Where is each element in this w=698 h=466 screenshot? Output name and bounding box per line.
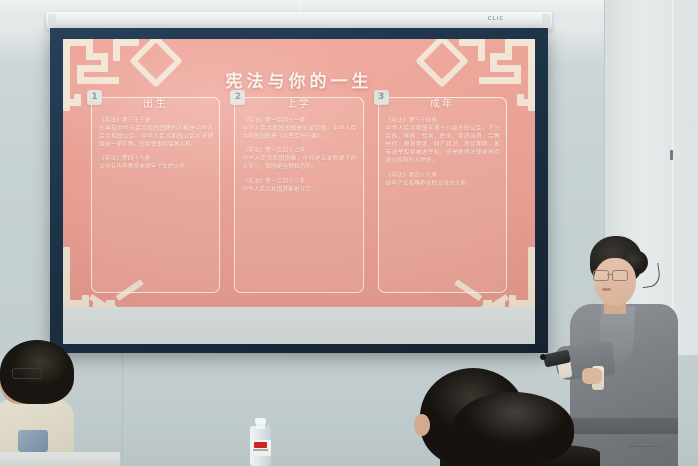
card-body: 《宪法》第三十四条 中华人民共和国年满十八周岁的公民，不分民族、种族、性别、职业… <box>386 117 500 287</box>
slide-card-adulthood: 3 成年 《宪法》第三十四条 中华人民共和国年满十八周岁的公民，不分民族、种族、… <box>378 97 507 293</box>
article-text: 中华人民共和国国旗是五星红旗。中华人民共和国国歌是《义勇军进行曲》。 <box>242 126 356 140</box>
card-paragraph: 《宪法》第三十三条 凡具有中华人民共和国国籍的人都是中华人民共和国公民。中华人民… <box>99 117 213 149</box>
presentation-remote-tip <box>540 354 546 360</box>
audience-head-front-right <box>452 392 574 466</box>
slide-card-school: 2 上学 《宪法》第一百四十一条 中华人民共和国国旗是五星红旗。中华人民共和国国… <box>234 97 363 293</box>
card-title: 上学 <box>235 97 362 113</box>
slide-card-row: 1 出生 《宪法》第三十三条 凡具有中华人民共和国国籍的人都是中华人民共和国公民… <box>91 97 507 293</box>
roller-cap-right <box>542 14 550 28</box>
article-text: 中华人民共和国年满十八周岁的公民，不分民族、种族、性别、职业、家庭出身、宗教信仰… <box>386 126 500 164</box>
slide-card-birth: 1 出生 《宪法》第三十三条 凡具有中华人民共和国国籍的人都是中华人民共和国公民… <box>91 97 220 293</box>
wall-seam <box>122 352 123 466</box>
article-reference: 《宪法》第一百四十二条 <box>242 147 356 155</box>
glasses-icon <box>593 270 631 279</box>
card-paragraph: 《宪法》第四十九条 成年子女有赡养扶助父母的义务。 <box>386 172 500 188</box>
presenter-coat-belt <box>570 418 678 434</box>
bottle-label-mark <box>254 442 267 448</box>
article-reference: 《宪法》第四十九条 <box>386 172 500 180</box>
presenter <box>556 236 680 466</box>
card-title: 出生 <box>92 97 219 113</box>
screen-blank-area <box>63 307 535 344</box>
roller-brand-label: CLiC <box>488 16 504 22</box>
screen-canvas: 宪法与你的一生 1 出生 《宪法》第三十三条 凡具有中华人民共和国国籍的人都是中… <box>63 39 535 344</box>
glasses-icon <box>12 368 42 379</box>
presenter-face <box>594 258 636 306</box>
card-body: 《宪法》第一百四十一条 中华人民共和国国旗是五星红旗。中华人民共和国国歌是《义勇… <box>242 117 356 287</box>
presenter-hair-strand <box>639 263 661 288</box>
card-paragraph: 《宪法》第一百四十一条 中华人民共和国国旗是五星红旗。中华人民共和国国歌是《义勇… <box>242 117 356 141</box>
article-text: 父母有抚养教育未成年子女的义务。 <box>99 164 191 170</box>
ear <box>414 414 430 436</box>
card-paragraph: 《宪法》第四十九条 父母有抚养教育未成年子女的义务。 <box>99 155 213 171</box>
article-reference: 《宪法》第四十九条 <box>99 155 213 163</box>
presenter-hand <box>582 368 602 384</box>
door-latch <box>670 150 673 160</box>
slide-title: 宪法与你的一生 <box>63 67 535 92</box>
article-text: 中华人民共和国首都是北京。 <box>242 187 317 193</box>
article-text: 凡具有中华人民共和国国籍的人都是中华人民共和国公民。中华人民共和国公民在法律面前… <box>99 126 213 148</box>
card-title: 成年 <box>379 97 506 113</box>
article-text: 成年子女有赡养扶助父母的义务。 <box>386 181 472 187</box>
card-paragraph: 《宪法》第一百四十二条 中华人民共和国国徽，中间是五星照耀下的天安门，周围是谷穗… <box>242 147 356 171</box>
article-reference: 《宪法》第一百四十一条 <box>242 117 356 125</box>
article-reference: 《宪法》第三十三条 <box>99 117 213 125</box>
article-reference: 《宪法》第三十四条 <box>386 117 500 125</box>
card-paragraph: 《宪法》第一百四十三条 中华人民共和国首都是北京。 <box>242 178 356 194</box>
table-edge <box>0 452 120 466</box>
presenter-mouth <box>602 288 611 291</box>
article-reference: 《宪法》第一百四十三条 <box>242 178 356 186</box>
presenter-coat-pocket <box>628 446 662 466</box>
classroom-scene: CLiC <box>0 0 698 466</box>
water-bottle[interactable] <box>250 418 271 466</box>
presentation-slide: 宪法与你的一生 1 出生 《宪法》第三十三条 凡具有中华人民共和国国籍的人都是中… <box>63 39 535 307</box>
roller-cap-left <box>48 14 56 28</box>
bottle-cap <box>255 418 266 424</box>
article-text: 中华人民共和国国徽，中间是五星照耀下的天安门，周围是谷穗和齿轮。 <box>242 156 356 170</box>
projection-screen: 宪法与你的一生 1 出生 《宪法》第三十三条 凡具有中华人民共和国国籍的人都是中… <box>50 28 548 353</box>
card-body: 《宪法》第三十三条 凡具有中华人民共和国国籍的人都是中华人民共和国公民。中华人民… <box>99 117 213 287</box>
bottle-label-text <box>253 449 268 451</box>
card-paragraph: 《宪法》第三十四条 中华人民共和国年满十八周岁的公民，不分民族、种族、性别、职业… <box>386 117 500 166</box>
audience-person-left-sleeve-patch <box>18 430 48 452</box>
